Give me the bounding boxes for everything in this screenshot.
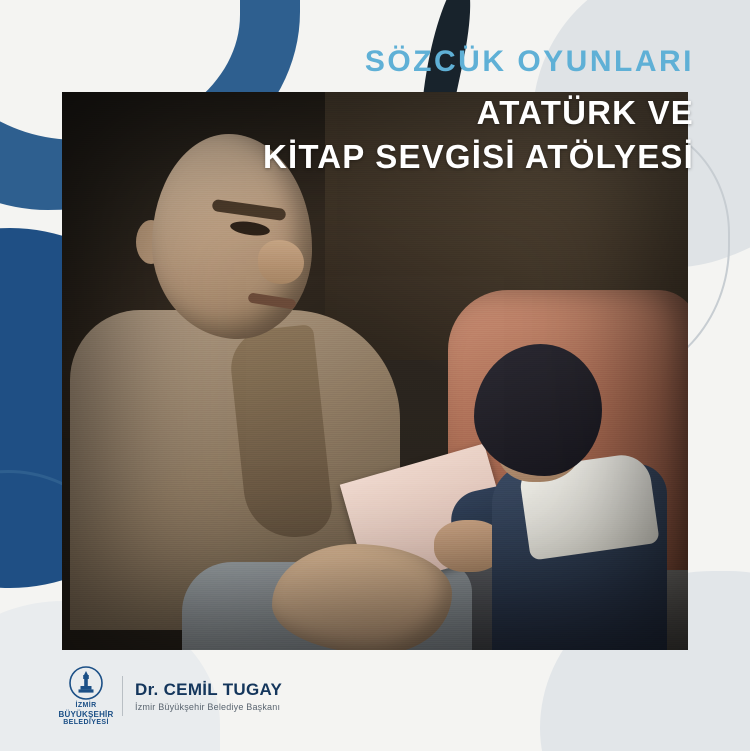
poster-kicker: SÖZCÜK OYUNLARI: [263, 46, 694, 78]
izmir-municipality-logo: İZMİR BÜYÜKŞEHİR BELEDİYESİ: [62, 666, 110, 727]
title-block: SÖZCÜK OYUNLARI ATATÜRK VE KİTAP SEVGİSİ…: [263, 46, 694, 178]
logo-line-3: BELEDİYESİ: [59, 719, 114, 727]
mayor-name: Dr. CEMİL TUGAY: [135, 679, 282, 700]
clock-tower-icon: [69, 666, 103, 700]
footer-branding: İZMİR BÜYÜKŞEHİR BELEDİYESİ Dr. CEMİL TU…: [62, 666, 282, 727]
poster-title-line-2: KİTAP SEVGİSİ ATÖLYESİ: [263, 136, 694, 178]
mayor-role: İzmir Büyükşehir Belediye Başkanı: [135, 702, 282, 713]
poster-title-line-1: ATATÜRK VE: [263, 92, 694, 134]
footer-divider: [122, 676, 123, 716]
logo-wordmark: İZMİR BÜYÜKŞEHİR BELEDİYESİ: [59, 702, 114, 727]
logo-line-1: İZMİR: [59, 702, 114, 710]
poster-canvas: SÖZCÜK OYUNLARI ATATÜRK VE KİTAP SEVGİSİ…: [0, 0, 750, 751]
mayor-block: Dr. CEMİL TUGAY İzmir Büyükşehir Belediy…: [135, 679, 282, 714]
logo-line-2: BÜYÜKŞEHİR: [59, 710, 114, 719]
